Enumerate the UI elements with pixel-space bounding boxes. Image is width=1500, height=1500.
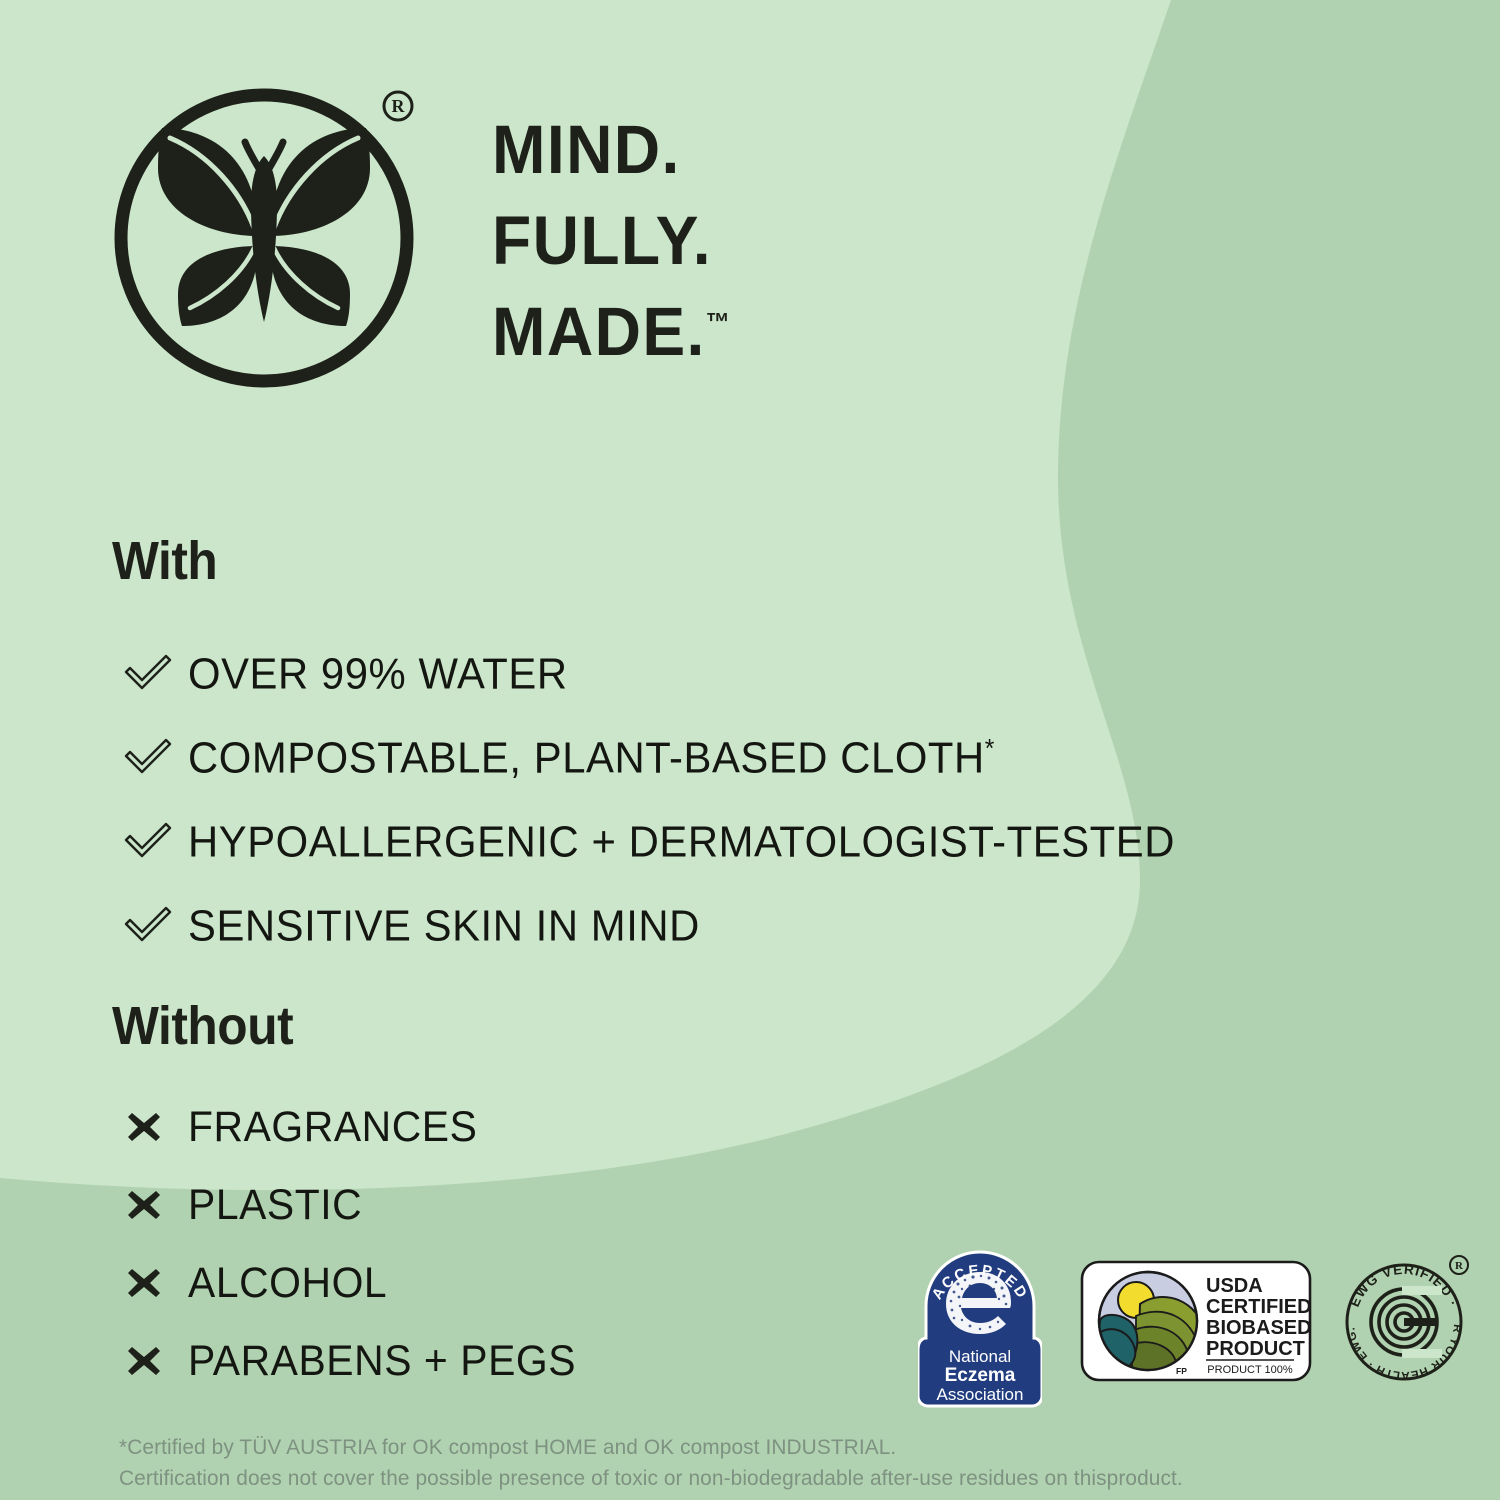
ewg-arc-top: EWG VERIFIED · [1347, 1262, 1461, 1309]
national-eczema-association-badge: ACCEPTED [918, 1244, 1042, 1414]
list-item: COMPOSTABLE, PLANT-BASED CLOTH* [122, 716, 1227, 800]
usda-line-3: BIOBASED [1206, 1317, 1312, 1339]
list-item-label: COMPOSTABLE, PLANT-BASED CLOTH* [188, 733, 995, 784]
check-icon [122, 735, 188, 781]
svg-text:EWG VERIFIED ·: EWG VERIFIED · [1347, 1262, 1461, 1309]
without-section-heading: Without [112, 995, 293, 1057]
usda-biobased-badge: FP USDA CERTIFIED BIOBASED PRODUCT PRODU… [1080, 1260, 1312, 1387]
with-list: OVER 99% WATER COMPOSTABLE, PLANT-BASED … [122, 632, 1227, 968]
usda-corner-mark: FP [1176, 1366, 1187, 1376]
list-item-label: OVER 99% WATER [188, 649, 568, 700]
wordmark: MIND. FULLY. MADE.™ [492, 104, 748, 377]
nea-line-3: Association [937, 1385, 1024, 1404]
without-list: FRAGRANCES PLASTIC ALCOHOL [122, 1088, 597, 1400]
list-item: PARABENS + PEGS [122, 1322, 597, 1400]
svg-text:R: R [392, 96, 406, 116]
list-item-label: PARABENS + PEGS [188, 1337, 576, 1386]
product-claims-panel: R [0, 0, 1500, 1500]
footnote-line-1: *Certified by TÜV AUSTRIA for OK compost… [119, 1432, 1183, 1463]
wordmark-line-3: MADE.™ [492, 286, 730, 377]
list-item-label: ALCOHOL [188, 1259, 387, 1308]
nea-line-2: Eczema [945, 1365, 1016, 1386]
check-icon [122, 819, 188, 865]
check-icon [122, 651, 188, 697]
list-item: HYPOALLERGENIC + DERMATOLOGIST-TESTED [122, 800, 1227, 884]
butterfly-logo-icon: R [112, 68, 432, 403]
cross-icon [122, 1339, 188, 1383]
list-item: PLASTIC [122, 1166, 597, 1244]
check-icon [122, 903, 188, 949]
footnote-line-2: Certification does not cover the possibl… [119, 1463, 1183, 1494]
registered-symbol-icon: R [1450, 1256, 1468, 1274]
svg-text:R: R [1455, 1260, 1464, 1272]
nea-line-1: National [949, 1347, 1011, 1366]
list-item-label: HYPOALLERGENIC + DERMATOLOGIST-TESTED [188, 817, 1175, 868]
registered-symbol-icon: R [384, 92, 412, 120]
brand-lockup: R [112, 68, 748, 403]
list-item-label: FRAGRANCES [188, 1103, 477, 1152]
ewg-verified-badge: R EWG VERIFIED · · FOR YOUR HEALTH · EWG… [1336, 1250, 1472, 1395]
certification-badges: ACCEPTED [918, 1242, 1478, 1412]
with-section-heading: With [112, 530, 217, 592]
wordmark-line-2: FULLY. [492, 195, 730, 286]
list-item: FRAGRANCES [122, 1088, 597, 1166]
list-item: OVER 99% WATER [122, 632, 1227, 716]
cross-icon [122, 1261, 188, 1305]
usda-line-1: USDA [1206, 1275, 1263, 1297]
list-item: ALCOHOL [122, 1244, 597, 1322]
list-item-label: PLASTIC [188, 1181, 362, 1230]
trademark-symbol: ™ [706, 307, 730, 337]
wordmark-line-1: MIND. [492, 104, 730, 195]
cross-icon [122, 1105, 188, 1149]
list-item: SENSITIVE SKIN IN MIND [122, 884, 1227, 968]
list-item-label: SENSITIVE SKIN IN MIND [188, 901, 700, 952]
wordmark-line-3-text: MADE. [492, 293, 706, 370]
usda-sub-label: PRODUCT 100% [1207, 1364, 1293, 1376]
cross-icon [122, 1183, 188, 1227]
usda-line-2: CERTIFIED [1206, 1296, 1312, 1318]
footnote-block: *Certified by TÜV AUSTRIA for OK compost… [119, 1432, 1183, 1494]
usda-line-4: PRODUCT [1206, 1338, 1305, 1360]
